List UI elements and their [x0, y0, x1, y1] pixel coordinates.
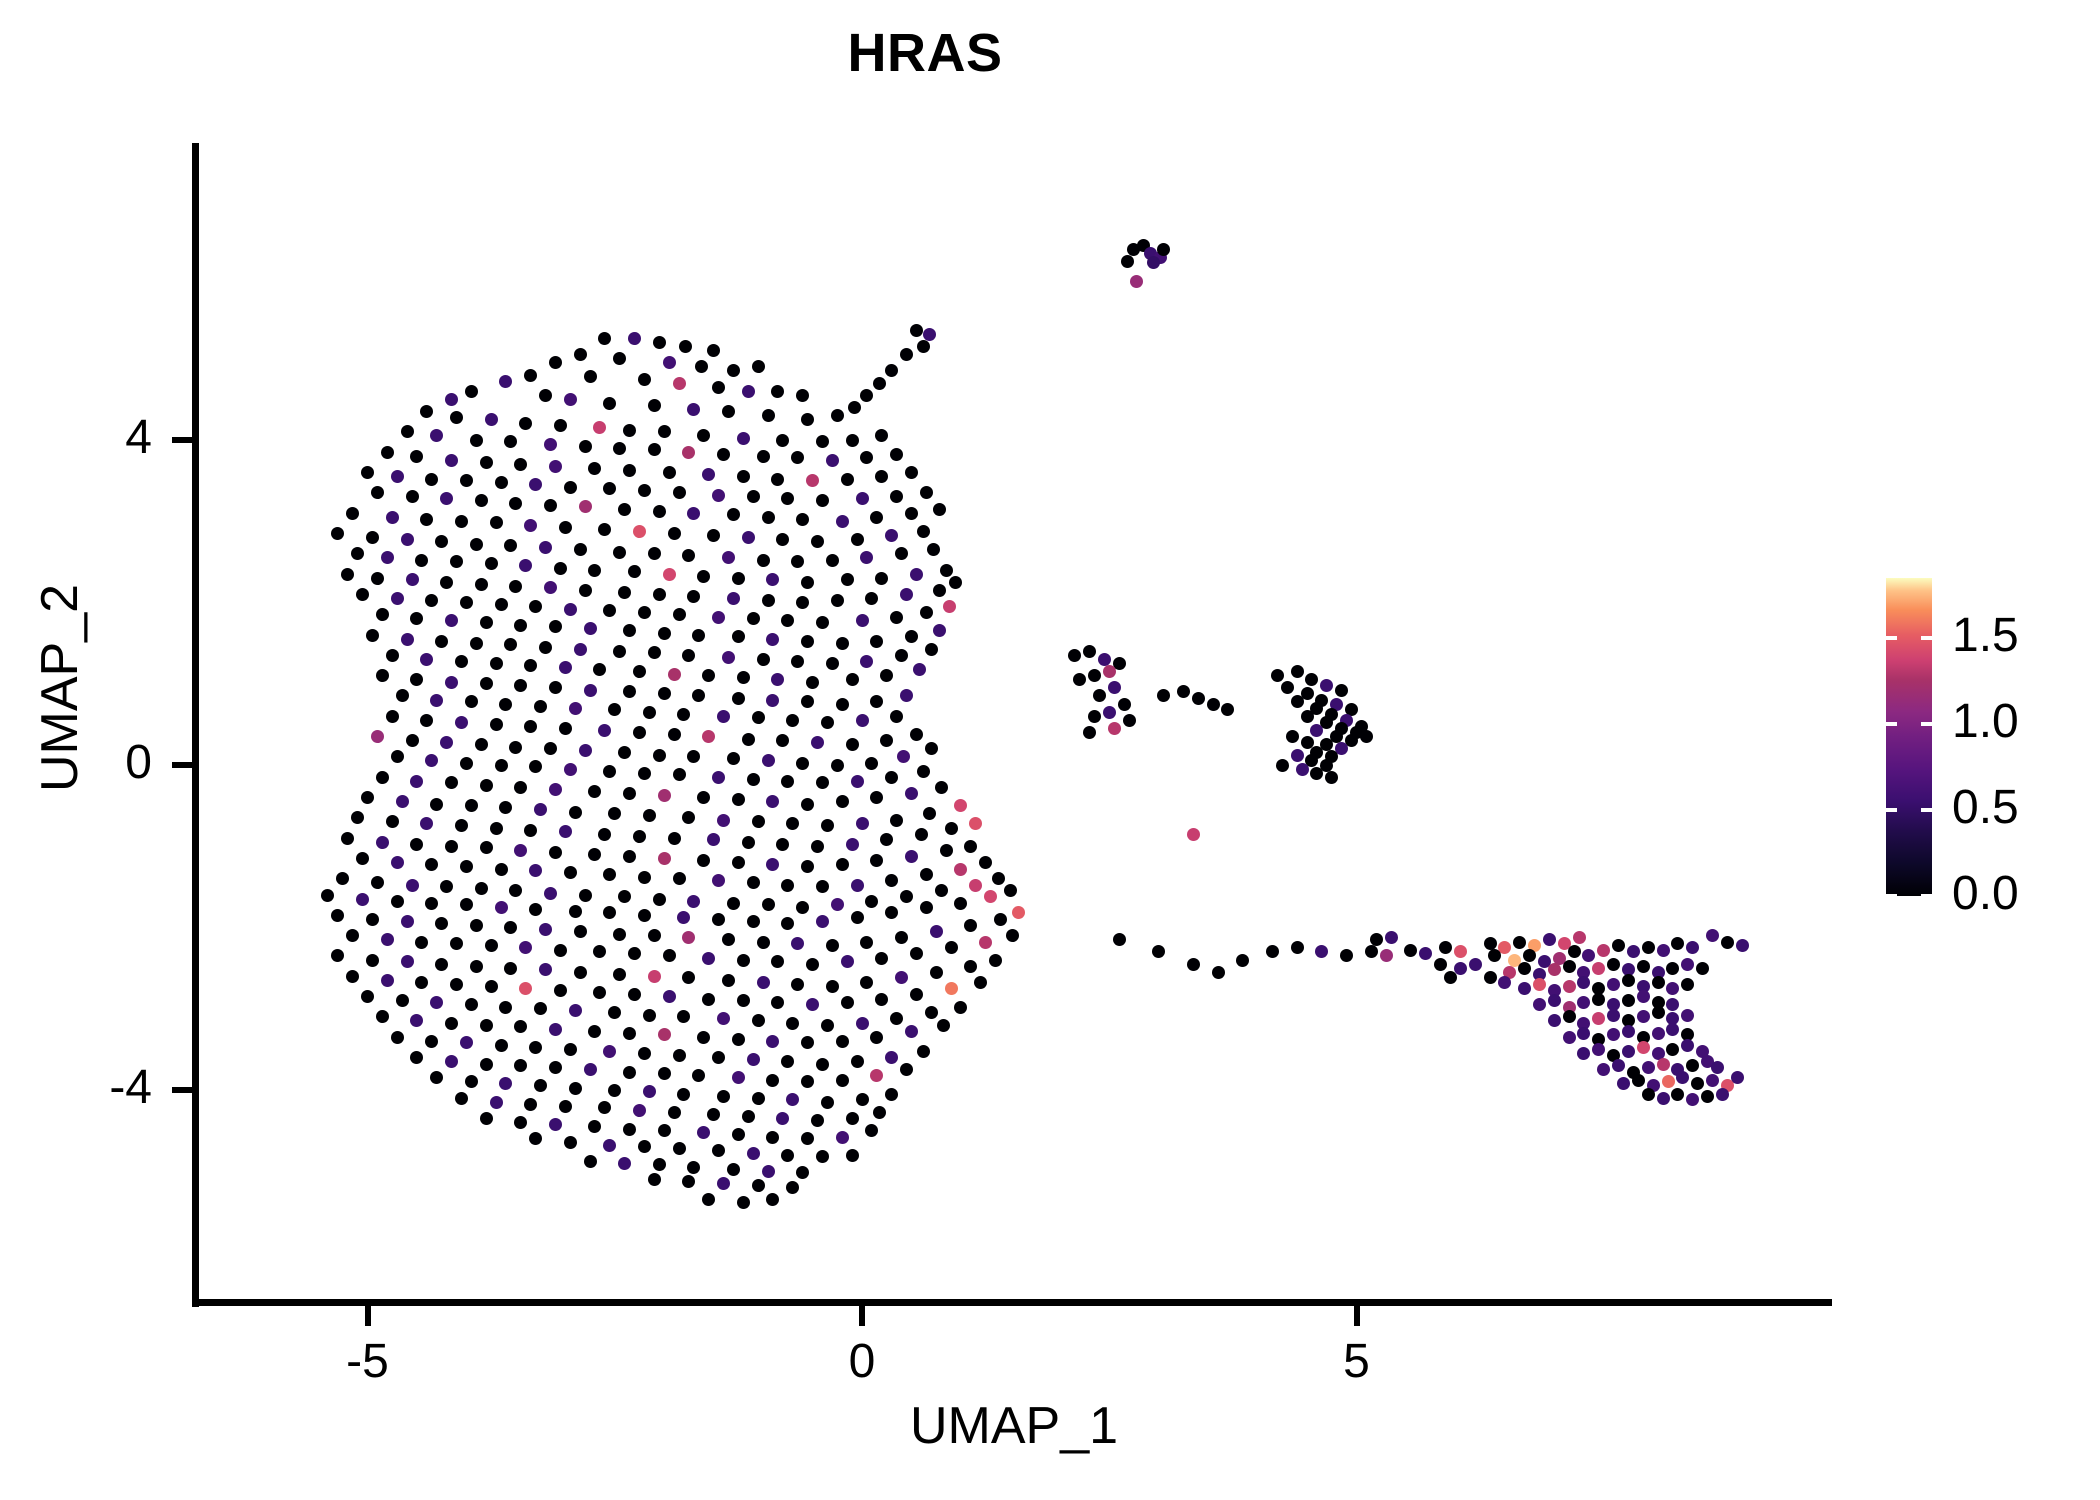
- scatter-point: [495, 863, 508, 876]
- scatter-point: [603, 1045, 616, 1058]
- scatter-point: [1563, 1031, 1576, 1044]
- scatter-point: [584, 370, 597, 383]
- scatter-point: [851, 911, 864, 924]
- scatter-point: [776, 533, 789, 546]
- scatter-point: [1622, 994, 1635, 1007]
- scatter-point: [544, 887, 557, 900]
- scatter-point: [564, 866, 577, 879]
- scatter-point: [356, 893, 369, 906]
- scatter-point: [954, 1001, 967, 1014]
- scatter-point: [480, 616, 493, 629]
- scatter-point: [356, 852, 369, 865]
- scatter-point: [514, 619, 527, 632]
- scatter-point: [673, 377, 686, 390]
- scatter-point: [579, 584, 592, 597]
- scatter-point: [1652, 976, 1665, 989]
- scatter-point: [781, 1149, 794, 1162]
- scatter-point: [549, 1023, 562, 1036]
- scatter-point: [717, 710, 730, 723]
- scatter-point: [445, 840, 458, 853]
- scatter-point: [549, 1118, 562, 1131]
- scatter-point: [851, 879, 864, 892]
- scatter-point: [495, 901, 508, 914]
- scatter-point: [341, 832, 354, 845]
- scatter-point: [1681, 1009, 1694, 1022]
- scatter-point: [509, 741, 522, 754]
- scatter-point: [846, 1149, 859, 1162]
- scatter-point: [1187, 958, 1200, 971]
- scatter-point: [925, 1006, 938, 1019]
- scatter-point: [796, 389, 809, 402]
- scatter-point: [836, 795, 849, 808]
- colorbar-tick-mark: [1921, 808, 1932, 812]
- scatter-point: [633, 665, 646, 678]
- scatter-point: [1286, 730, 1299, 743]
- scatter-point: [1123, 714, 1136, 727]
- scatter-point: [569, 806, 582, 819]
- scatter-point: [737, 954, 750, 967]
- scatter-point: [485, 939, 498, 952]
- scatter-point: [480, 1019, 493, 1032]
- scatter-point: [579, 744, 592, 757]
- scatter-point: [490, 516, 503, 529]
- scatter-point: [1543, 933, 1556, 946]
- scatter-point: [658, 789, 671, 802]
- scatter-point: [1681, 958, 1694, 971]
- scatter-point: [455, 655, 468, 668]
- scatter-point: [391, 592, 404, 605]
- scatter-point: [1642, 1061, 1655, 1074]
- scatter-point: [890, 710, 903, 723]
- scatter-point: [766, 633, 779, 646]
- scatter-point: [1706, 1074, 1719, 1087]
- scatter-point: [623, 1123, 636, 1136]
- scatter-point: [346, 507, 359, 520]
- scatter-point: [920, 868, 933, 881]
- scatter-point: [826, 554, 839, 567]
- scatter-point: [925, 742, 938, 755]
- scatter-point: [668, 668, 681, 681]
- x-tick-mark: [1354, 1306, 1360, 1326]
- scatter-point: [1652, 1027, 1665, 1040]
- scatter-point: [732, 692, 745, 705]
- scatter-point: [846, 838, 859, 851]
- scatter-point: [628, 947, 641, 960]
- scatter-point: [1271, 669, 1284, 682]
- scatter-point: [917, 1045, 930, 1058]
- scatter-point: [905, 507, 918, 520]
- scatter-point: [1236, 954, 1249, 967]
- colorbar-gradient: [1886, 578, 1932, 896]
- scatter-point: [1736, 939, 1749, 952]
- scatter-point: [579, 440, 592, 453]
- colorbar-tick-mark: [1886, 894, 1897, 898]
- scatter-point: [917, 525, 930, 538]
- scatter-point: [856, 492, 869, 505]
- scatter-point: [539, 389, 552, 402]
- scatter-point: [851, 775, 864, 788]
- scatter-point: [702, 952, 715, 965]
- scatter-point: [1632, 1074, 1645, 1087]
- scatter-point: [1617, 1077, 1630, 1090]
- scatter-point: [623, 850, 636, 863]
- scatter-point: [480, 779, 493, 792]
- scatter-point: [663, 990, 676, 1003]
- scatter-point: [762, 898, 775, 911]
- scatter-point: [346, 970, 359, 983]
- scatter-point: [425, 473, 438, 486]
- scatter-point: [455, 515, 468, 528]
- scatter-point: [584, 622, 597, 635]
- scatter-point: [406, 490, 419, 503]
- scatter-point: [559, 661, 572, 674]
- scatter-point: [757, 554, 770, 567]
- scatter-point: [806, 676, 819, 689]
- scatter-point: [653, 749, 666, 762]
- scatter-point: [1518, 962, 1531, 975]
- scatter-point: [933, 584, 946, 597]
- scatter-point: [1103, 665, 1116, 678]
- scatter-point: [781, 879, 794, 892]
- scatter-point: [994, 913, 1007, 926]
- scatter-point: [762, 511, 775, 524]
- scatter-point: [480, 841, 493, 854]
- scatter-point: [430, 694, 443, 707]
- scatter-point: [910, 728, 923, 741]
- scatter-point: [895, 931, 908, 944]
- scatter-point: [831, 409, 844, 422]
- scatter-point: [445, 614, 458, 627]
- scatter-point: [401, 425, 414, 438]
- scatter-point: [549, 460, 562, 473]
- scatter-point: [687, 507, 700, 520]
- scatter-point: [752, 1179, 765, 1192]
- scatter-point: [588, 564, 601, 577]
- scatter-point: [856, 1093, 869, 1106]
- scatter-point: [495, 598, 508, 611]
- scatter-point: [712, 381, 725, 394]
- scatter-point: [391, 1031, 404, 1044]
- scatter-point: [1637, 960, 1650, 973]
- scatter-point: [989, 954, 1002, 967]
- colorbar-tick-mark: [1886, 808, 1897, 812]
- scatter-point: [917, 340, 930, 353]
- scatter-point: [623, 1066, 636, 1079]
- scatter-point: [945, 822, 958, 835]
- scatter-point: [727, 752, 740, 765]
- scatter-point: [1484, 971, 1497, 984]
- scatter-point: [401, 915, 414, 928]
- scatter-point: [940, 564, 953, 577]
- scatter-point: [663, 356, 676, 369]
- scatter-point: [910, 324, 923, 337]
- scatter-point: [841, 955, 854, 968]
- scatter-point: [633, 525, 646, 538]
- scatter-point: [475, 738, 488, 751]
- scatter-point: [663, 568, 676, 581]
- scatter-point: [588, 785, 601, 798]
- scatter-point: [846, 673, 859, 686]
- scatter-point: [969, 879, 982, 892]
- colorbar-tick-mark: [1921, 894, 1932, 898]
- scatter-point: [870, 511, 883, 524]
- scatter-point: [673, 1049, 686, 1062]
- scatter-point: [1281, 681, 1294, 694]
- scatter-point: [425, 897, 438, 910]
- scatter-point: [549, 1061, 562, 1074]
- scatter-point: [1513, 936, 1526, 949]
- scatter-point: [371, 572, 384, 585]
- scatter-point: [910, 988, 923, 1001]
- scatter-point: [1310, 767, 1323, 780]
- scatter-point: [1469, 958, 1482, 971]
- scatter-point: [747, 915, 760, 928]
- scatter-point: [321, 889, 334, 902]
- scatter-point: [386, 710, 399, 723]
- scatter-point: [623, 1027, 636, 1040]
- scatter-point: [569, 905, 582, 918]
- scatter-point: [381, 974, 394, 987]
- scatter-point: [361, 990, 374, 1003]
- scatter-point: [668, 1106, 681, 1119]
- scatter-point: [1652, 1006, 1665, 1019]
- scatter-point: [752, 360, 765, 373]
- scatter-point: [569, 702, 582, 715]
- scatter-point: [910, 568, 923, 581]
- scatter-point: [549, 783, 562, 796]
- scatter-point: [905, 787, 918, 800]
- scatter-point: [401, 955, 414, 968]
- scatter-point: [425, 1035, 438, 1048]
- scatter-point: [361, 466, 374, 479]
- scatter-point: [697, 1126, 710, 1139]
- scatter-point: [1548, 963, 1561, 976]
- colorbar-tick-label: 1.5: [1952, 608, 2100, 663]
- scatter-point: [742, 1110, 755, 1123]
- scatter-point: [653, 505, 666, 518]
- scatter-point: [465, 998, 478, 1011]
- scatter-point: [534, 700, 547, 713]
- scatter-point: [1642, 941, 1655, 954]
- scatter-point: [673, 872, 686, 885]
- colorbar-tick-mark: [1921, 722, 1932, 726]
- scatter-point: [757, 450, 770, 463]
- scatter-point: [574, 966, 587, 979]
- scatter-point: [406, 734, 419, 747]
- scatter-point: [920, 606, 933, 619]
- scatter-point: [841, 473, 854, 486]
- scatter-point: [1597, 944, 1610, 957]
- scatter-point: [875, 572, 888, 585]
- scatter-point: [1088, 669, 1101, 682]
- x-axis-label: UMAP_1: [196, 1396, 1832, 1456]
- scatter-point: [1276, 759, 1289, 772]
- scatter-point: [564, 393, 577, 406]
- scatter-point: [762, 754, 775, 767]
- scatter-point: [870, 1031, 883, 1044]
- scatter-point: [1291, 695, 1304, 708]
- x-tick-mark: [365, 1306, 371, 1326]
- scatter-point: [717, 1177, 730, 1190]
- scatter-point: [490, 822, 503, 835]
- scatter-point: [1563, 1010, 1576, 1023]
- scatter-point: [366, 913, 379, 926]
- scatter-point: [742, 836, 755, 849]
- scatter-point: [1360, 730, 1373, 743]
- scatter-point: [905, 630, 918, 643]
- scatter-point: [1113, 933, 1126, 946]
- scatter-point: [1157, 243, 1170, 256]
- scatter-point: [460, 596, 473, 609]
- scatter-point: [697, 1031, 710, 1044]
- scatter-point: [450, 411, 463, 424]
- scatter-point: [524, 369, 537, 382]
- scatter-point: [935, 781, 948, 794]
- scatter-point: [1642, 1088, 1655, 1101]
- scatter-point: [623, 424, 636, 437]
- scatter-point: [727, 592, 740, 605]
- scatter-point: [584, 1063, 597, 1076]
- scatter-point: [574, 925, 587, 938]
- scatter-point: [643, 706, 656, 719]
- scatter-point: [564, 1136, 577, 1149]
- scatter-point: [747, 612, 760, 625]
- scatter-point: [341, 568, 354, 581]
- scatter-point: [490, 1096, 503, 1109]
- scatter-point: [391, 856, 404, 869]
- scatter-point: [851, 533, 864, 546]
- scatter-point: [465, 695, 478, 708]
- scatter-point: [623, 787, 636, 800]
- scatter-point: [1563, 980, 1576, 993]
- scatter-point: [579, 889, 592, 902]
- scatter-point: [638, 871, 651, 884]
- scatter-point: [391, 470, 404, 483]
- scatter-point: [465, 799, 478, 812]
- scatter-point: [885, 874, 898, 887]
- scatter-point: [712, 771, 725, 784]
- scatter-point: [885, 1088, 898, 1101]
- scatter-point: [915, 828, 928, 841]
- scatter-point: [648, 1173, 661, 1186]
- scatter-point: [786, 714, 799, 727]
- scatter-point: [1103, 706, 1116, 719]
- scatter-point: [638, 484, 651, 497]
- scatter-point: [895, 649, 908, 662]
- scatter-point: [727, 1163, 740, 1176]
- scatter-point: [559, 825, 572, 838]
- scatter-point: [935, 884, 948, 897]
- scatter-point: [633, 1104, 646, 1117]
- scatter-point: [762, 594, 775, 607]
- scatter-point: [564, 763, 577, 776]
- scatter-point: [559, 1100, 572, 1113]
- scatter-point: [574, 543, 587, 556]
- scatter-point: [841, 573, 854, 586]
- scatter-point: [608, 1084, 621, 1097]
- scatter-point: [1385, 931, 1398, 944]
- scatter-point: [480, 1112, 493, 1125]
- scatter-point: [692, 629, 705, 642]
- scatter-point: [836, 1035, 849, 1048]
- scatter-point: [816, 1058, 829, 1071]
- x-axis-line: [192, 1299, 1832, 1306]
- y-axis-label: UMAP_2: [30, 368, 90, 1008]
- scatter-point: [470, 637, 483, 650]
- scatter-point: [663, 466, 676, 479]
- scatter-point: [1662, 1075, 1675, 1088]
- scatter-point: [366, 954, 379, 967]
- x-tick-label: -5: [288, 1334, 448, 1389]
- scatter-point: [490, 718, 503, 731]
- scatter-point: [776, 434, 789, 447]
- scatter-point: [717, 1090, 730, 1103]
- scatter-point: [1637, 1041, 1650, 1054]
- scatter-point: [1434, 958, 1447, 971]
- scatter-point: [470, 960, 483, 973]
- scatter-point: [1716, 1088, 1729, 1101]
- y-tick-mark: [172, 437, 192, 443]
- scatter-point: [455, 1092, 468, 1105]
- scatter-point: [762, 1165, 775, 1178]
- scatter-point: [673, 486, 686, 499]
- scatter-point: [396, 795, 409, 808]
- scatter-point: [860, 655, 873, 668]
- scatter-point: [806, 958, 819, 971]
- scatter-point: [584, 684, 597, 697]
- scatter-point: [811, 840, 824, 853]
- scatter-point: [890, 611, 903, 624]
- scatter-point: [1301, 710, 1314, 723]
- scatter-point: [559, 521, 572, 534]
- scatter-point: [737, 994, 750, 1007]
- scatter-point: [801, 798, 814, 811]
- scatter-point: [1098, 653, 1111, 666]
- scatter-point: [643, 1085, 656, 1098]
- scatter-point: [1548, 994, 1561, 1007]
- scatter-point: [450, 978, 463, 991]
- scatter-point: [856, 1017, 869, 1030]
- scatter-point: [937, 1019, 950, 1032]
- scatter-point: [1083, 726, 1096, 739]
- scatter-point: [1622, 1025, 1635, 1038]
- colorbar-tick-label: 1.0: [1952, 694, 2100, 749]
- scatter-point: [831, 898, 844, 911]
- scatter-point: [593, 663, 606, 676]
- scatter-point: [376, 836, 389, 849]
- scatter-point: [445, 1017, 458, 1030]
- scatter-point: [668, 728, 681, 741]
- scatter-point: [875, 993, 888, 1006]
- scatter-point: [440, 576, 453, 589]
- scatter-point: [1533, 978, 1546, 991]
- scatter-point: [732, 1128, 745, 1141]
- colorbar-tick-mark: [1886, 722, 1897, 726]
- scatter-point: [841, 996, 854, 1009]
- scatter-point: [524, 519, 537, 532]
- scatter-point: [925, 643, 938, 656]
- scatter-point: [1325, 771, 1338, 784]
- scatter-point: [1291, 941, 1304, 954]
- scatter-point: [658, 687, 671, 700]
- scatter-point: [732, 856, 745, 869]
- scatter-point: [771, 473, 784, 486]
- scatter-point: [435, 958, 448, 971]
- scatter-point: [757, 653, 770, 666]
- scatter-point: [848, 401, 861, 414]
- scatter-point: [1083, 645, 1096, 658]
- colorbar-legend: [1886, 578, 1932, 896]
